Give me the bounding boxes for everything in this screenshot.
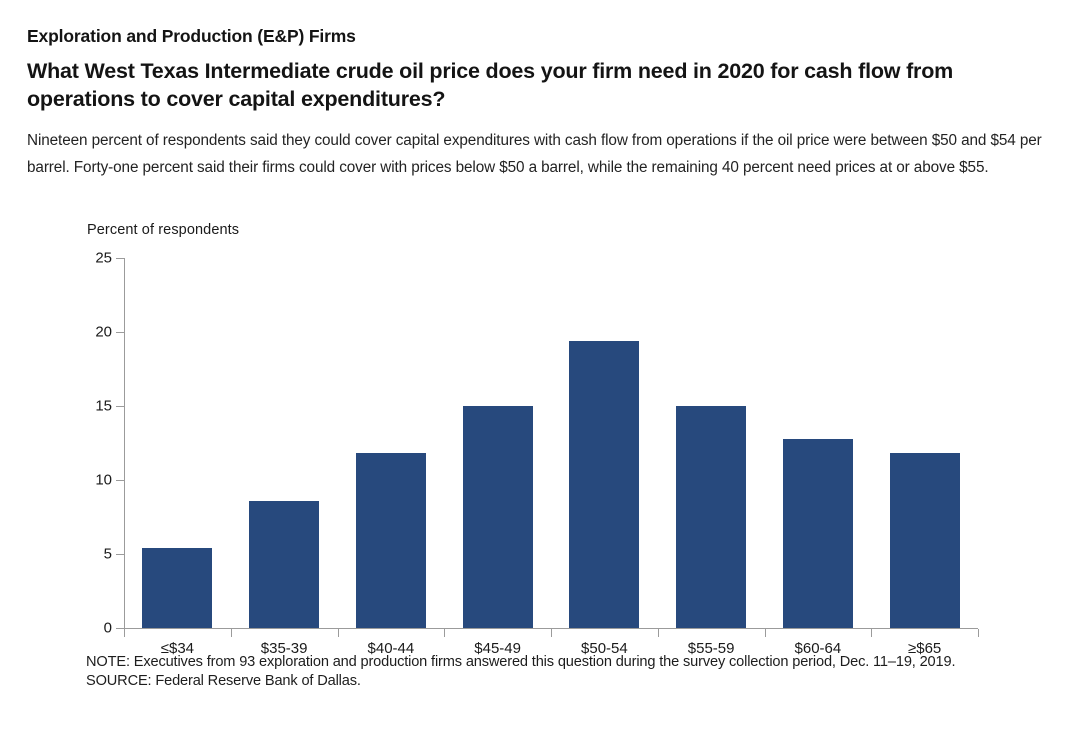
section-kicker: Exploration and Production (E&P) Firms [27, 26, 1047, 47]
x-tick-mark [658, 629, 659, 637]
bar-slot [765, 258, 872, 628]
y-tick-label: 0 [104, 620, 112, 637]
y-tick-label: 15 [95, 398, 112, 415]
bar-slot [871, 258, 978, 628]
x-tick-mark [231, 629, 232, 637]
y-tick-mark [116, 554, 124, 555]
chart-page: Exploration and Production (E&P) Firms W… [0, 0, 1080, 739]
y-tick-mark [116, 628, 124, 629]
y-tick-mark [116, 332, 124, 333]
page-title: What West Texas Intermediate crude oil p… [27, 58, 999, 113]
y-tick-mark [116, 406, 124, 407]
x-tick-mark [765, 629, 766, 637]
plot-area: 0510152025 ≤$34$35-39$40-44$45-49$50-54$… [124, 258, 978, 628]
note-text: NOTE: Executives from 93 exploration and… [86, 653, 1046, 672]
bar-chart: Percent of respondents 0510152025 ≤$34$3… [0, 222, 1080, 682]
x-tick-mark [124, 629, 125, 637]
bar-slot [124, 258, 231, 628]
y-tick-label: 25 [95, 250, 112, 267]
bar[interactable] [142, 548, 212, 628]
y-tick-label: 5 [104, 546, 112, 563]
header-block: Exploration and Production (E&P) Firms W… [27, 26, 1047, 181]
x-tick-mark [444, 629, 445, 637]
footnotes-block: NOTE: Executives from 93 exploration and… [86, 653, 1046, 692]
y-tick-label: 10 [95, 472, 112, 489]
bars-layer [124, 258, 978, 628]
bar[interactable] [676, 406, 746, 628]
bar-slot [551, 258, 658, 628]
bar-slot [444, 258, 551, 628]
bar[interactable] [249, 501, 319, 628]
bar-slot [658, 258, 765, 628]
x-tick-mark [978, 629, 979, 637]
bar[interactable] [783, 439, 853, 628]
source-text: SOURCE: Federal Reserve Bank of Dallas. [86, 672, 1046, 691]
x-tick-mark [551, 629, 552, 637]
x-tick-mark [871, 629, 872, 637]
bar[interactable] [890, 453, 960, 628]
bar-slot [231, 258, 338, 628]
x-tick-mark [338, 629, 339, 637]
summary-paragraph: Nineteen percent of respondents said the… [27, 127, 1047, 181]
bar[interactable] [356, 453, 426, 628]
y-tick-label: 20 [95, 324, 112, 341]
y-axis-title: Percent of respondents [87, 222, 239, 238]
bar-slot [338, 258, 445, 628]
y-tick-mark [116, 480, 124, 481]
bar[interactable] [569, 341, 639, 628]
bar[interactable] [463, 406, 533, 628]
y-tick-mark [116, 258, 124, 259]
